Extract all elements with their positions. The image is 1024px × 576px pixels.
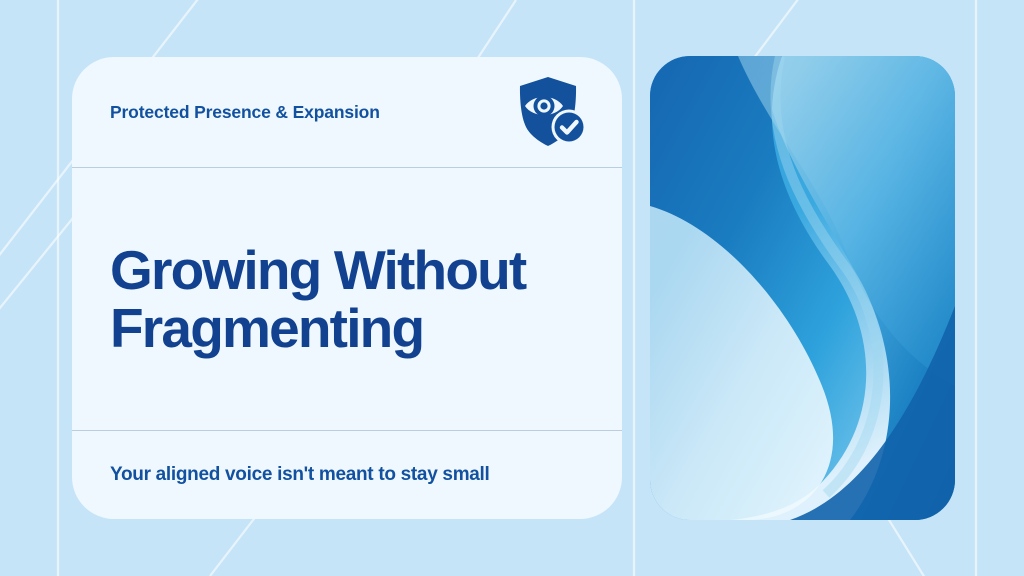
abstract-wave-graphic: [650, 56, 955, 520]
card-footer: Your aligned voice isn't meant to stay s…: [72, 431, 622, 519]
shield-eye-check-icon: [512, 75, 590, 149]
subtitle-text: Your aligned voice isn't meant to stay s…: [110, 464, 490, 486]
page-title: Growing Without Fragmenting: [110, 241, 525, 358]
headline-line-1: Growing Without: [110, 239, 525, 301]
headline-line-2: Fragmenting: [110, 297, 423, 359]
card-body: Growing Without Fragmenting: [72, 168, 622, 430]
eyebrow-label: Protected Presence & Expansion: [110, 102, 380, 123]
slide-canvas: Protected Presence & Expansion: [0, 0, 1024, 576]
content-card: Protected Presence & Expansion: [72, 57, 622, 519]
card-header: Protected Presence & Expansion: [72, 57, 622, 167]
